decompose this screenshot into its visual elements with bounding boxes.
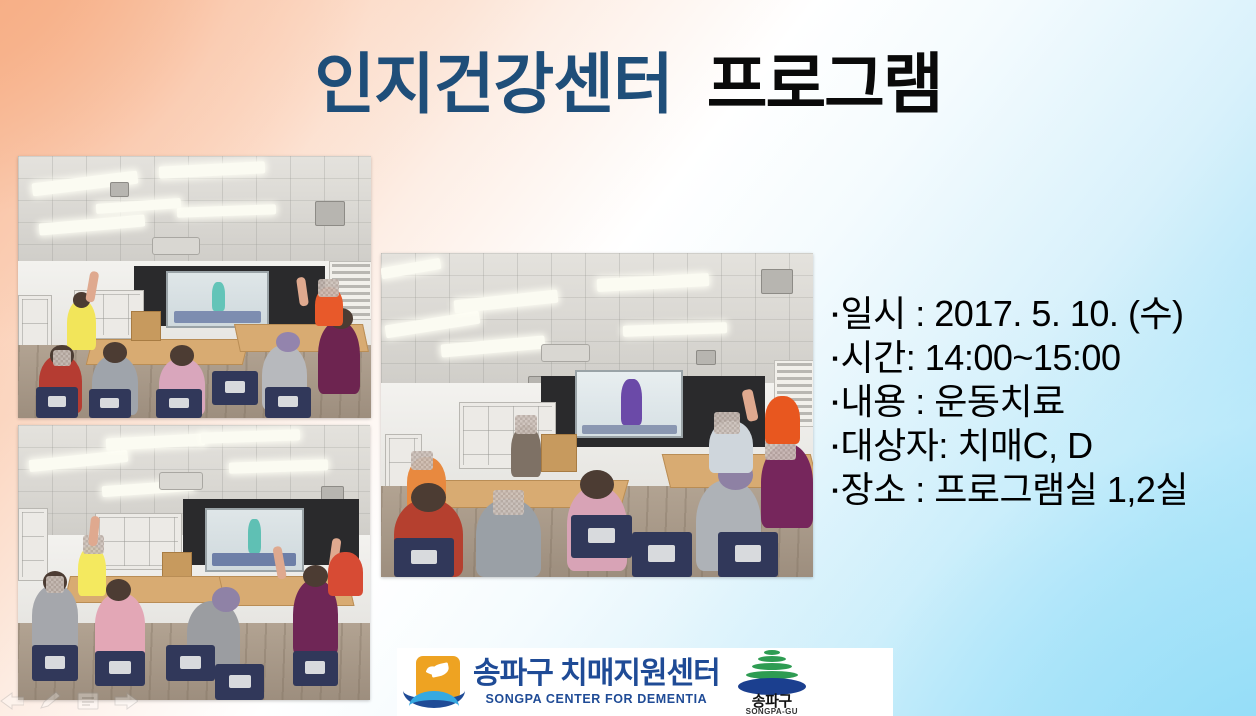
songpa-gu-emblem-icon: 송파구 SONGPA-GU	[734, 650, 810, 714]
gu-name-english: SONGPA-GU	[734, 708, 810, 716]
classroom-scene	[18, 425, 370, 700]
list-item: ▪ 장소 : 프로그램실 1,2실	[832, 468, 1248, 512]
bullet-square-icon: ▪	[832, 482, 838, 499]
slides-menu-icon[interactable]	[76, 691, 100, 711]
projection-screen	[575, 370, 683, 439]
list-item: ▪ 내용 : 운동치료	[832, 380, 1248, 424]
detail-date: 일시 : 2017. 5. 10. (수)	[841, 292, 1184, 336]
classroom-scene	[18, 156, 371, 418]
list-item: ▪ 시간: 14:00~15:00	[832, 336, 1248, 380]
previous-arrow-icon[interactable]	[0, 691, 24, 711]
center-name: 송파구 치매지원센터	[473, 658, 720, 690]
detail-content: 내용 : 운동치료	[841, 380, 1065, 424]
program-details-list: ▪ 일시 : 2017. 5. 10. (수) ▪ 시간: 14:00~15:0…	[832, 292, 1248, 512]
projection-screen	[166, 271, 269, 327]
next-arrow-icon[interactable]	[114, 691, 138, 711]
detail-time: 시간: 14:00~15:00	[841, 336, 1121, 380]
slide-title: 인지건강센터프로그램	[0, 48, 1256, 121]
classroom-scene	[381, 253, 813, 577]
presentation-slide: 인지건강센터프로그램	[0, 0, 1256, 716]
bullet-square-icon: ▪	[832, 306, 838, 323]
detail-location: 장소 : 프로그램실 1,2실	[841, 468, 1189, 512]
photo-top-left	[18, 156, 371, 418]
photo-bottom-left	[18, 425, 370, 700]
slide-title-primary: 인지건강센터	[314, 47, 672, 121]
logo-text-block: 송파구 치매지원센터 SONGPA CENTER FOR DEMENTIA	[473, 658, 720, 706]
detail-target: 대상자: 치매C, D	[841, 424, 1093, 468]
songpa-dementia-center-logo-icon	[403, 653, 465, 711]
center-name-english: SONGPA CENTER FOR DEMENTIA	[473, 692, 720, 706]
bullet-square-icon: ▪	[832, 394, 838, 411]
bullet-square-icon: ▪	[832, 350, 838, 367]
list-item: ▪ 대상자: 치매C, D	[832, 424, 1248, 468]
logo-band: 송파구 치매지원센터 SONGPA CENTER FOR DEMENTIA 송파…	[397, 648, 893, 716]
slide-title-secondary: 프로그램	[707, 47, 942, 121]
presentation-controls[interactable]	[0, 686, 150, 716]
photo-center	[381, 253, 813, 577]
pen-icon[interactable]	[38, 691, 62, 711]
projection-screen	[205, 508, 304, 573]
list-item: ▪ 일시 : 2017. 5. 10. (수)	[832, 292, 1248, 336]
bullet-square-icon: ▪	[832, 438, 838, 455]
